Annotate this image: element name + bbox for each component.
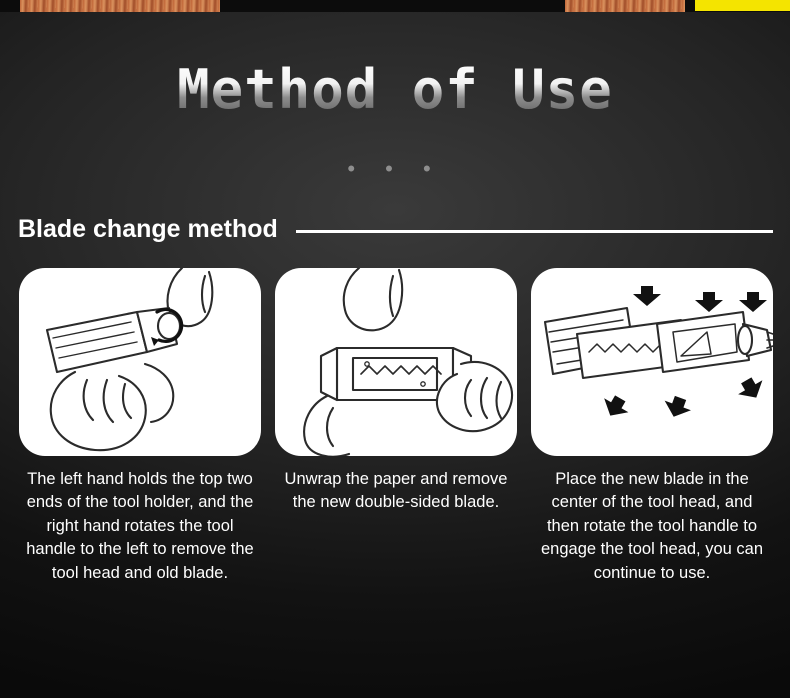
step-card-1: The left hand holds the top two ends of … [19,268,261,585]
step-card-2: Unwrap the paper and remove the new doub… [275,268,517,585]
section-title: Blade change method [18,215,278,244]
section-heading-row: Blade change method [18,212,773,246]
top-strip-chip-right [565,0,685,12]
top-strip-chip-left [20,0,220,12]
hand-unscrewing-razor-head-icon [19,268,261,456]
step-1-caption: The left hand holds the top two ends of … [19,468,261,585]
top-image-strip [0,0,790,12]
step-3-illustration-panel [531,268,773,456]
step-1-illustration-panel [19,268,261,456]
placing-blade-into-razor-head-icon [531,268,773,456]
step-2-illustration-panel [275,268,517,456]
top-yellow-accent-bar [695,0,790,11]
page: Method of Use • • • Blade change method [0,0,790,698]
steps-card-group: The left hand holds the top two ends of … [19,268,772,585]
section-divider-line [296,230,773,233]
step-card-3: Place the new blade in the center of the… [531,268,773,585]
step-2-caption: Unwrap the paper and remove the new doub… [275,468,517,515]
page-title: Method of Use [0,62,790,119]
hands-unwrapping-paper-blade-icon [275,268,517,456]
title-dots-ornament: • • • [0,158,790,180]
step-3-caption: Place the new blade in the center of the… [531,468,773,585]
